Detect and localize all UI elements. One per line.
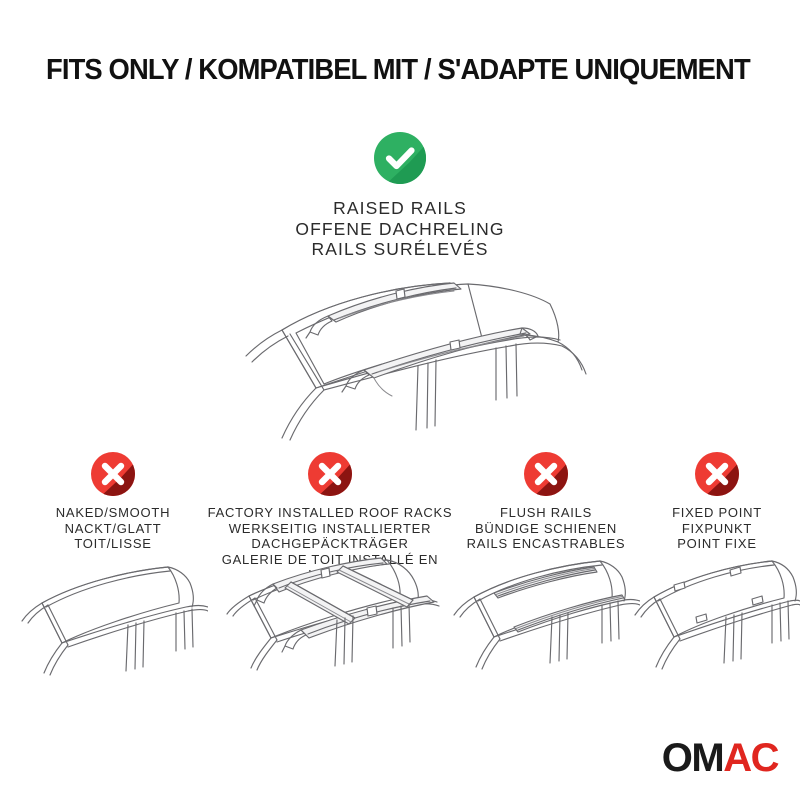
logo-text-om: OM xyxy=(662,736,723,780)
item-labels: FIXED POINT FIXPUNKT POINT FIXE xyxy=(634,505,800,552)
item-label-3: RAILS ENCASTRABLES xyxy=(452,536,640,552)
item-label-3: DACHGEPÄCKTRÄGER xyxy=(205,536,455,552)
item-label-3: POINT FIXE xyxy=(634,536,800,552)
incompatible-sections: NAKED/SMOOTH NACKT/GLATT TOIT/LISSE xyxy=(0,452,800,692)
x-circle-icon xyxy=(91,452,135,496)
x-mark-glyph xyxy=(91,452,135,496)
item-label-2: NACKT/GLATT xyxy=(18,521,208,537)
car-roof-factory-racks-illustration xyxy=(205,552,455,672)
check-mark-glyph xyxy=(374,132,426,184)
item-labels: FLUSH RAILS BÜNDIGE SCHIENEN RAILS ENCAS… xyxy=(452,505,640,552)
item-label-3: TOIT/LISSE xyxy=(18,536,208,552)
x-circle-icon xyxy=(695,452,739,496)
incompatible-item-flush-rails: FLUSH RAILS BÜNDIGE SCHIENEN RAILS ENCAS… xyxy=(452,452,640,552)
compatible-labels: RAISED RAILS OFFENE DACHRELING RAILS SUR… xyxy=(0,198,800,260)
incompatible-item-factory-racks: FACTORY INSTALLED ROOF RACKS WERKSEITIG … xyxy=(205,452,455,583)
compatible-label-fr: RAILS SURÉLEVÉS xyxy=(0,239,800,260)
item-label-1: NAKED/SMOOTH xyxy=(18,505,208,521)
x-circle-icon xyxy=(524,452,568,496)
compatible-section: RAISED RAILS OFFENE DACHRELING RAILS SUR… xyxy=(0,132,800,260)
car-roof-raised-rails-illustration xyxy=(178,278,628,453)
car-roof-flush-rails-illustration xyxy=(452,555,640,675)
x-mark-glyph xyxy=(524,452,568,496)
omac-logo: OMAC xyxy=(662,738,778,778)
incompatible-item-fixed-point: FIXED POINT FIXPUNKT POINT FIXE xyxy=(634,452,800,552)
logo-text-ac: AC xyxy=(723,736,778,780)
incompatible-item-naked: NAKED/SMOOTH NACKT/GLATT TOIT/LISSE xyxy=(18,452,208,552)
car-roof-naked-illustration xyxy=(18,559,208,679)
item-label-2: WERKSEITIG INSTALLIERTER xyxy=(205,521,455,537)
item-label-1: FACTORY INSTALLED ROOF RACKS xyxy=(205,505,455,521)
car-roof-fixed-point-illustration xyxy=(634,555,800,675)
x-mark-glyph xyxy=(308,452,352,496)
item-label-1: FLUSH RAILS xyxy=(452,505,640,521)
x-circle-icon xyxy=(308,452,352,496)
x-mark-glyph xyxy=(695,452,739,496)
compatible-label-de: OFFENE DACHRELING xyxy=(0,219,800,240)
item-labels: NAKED/SMOOTH NACKT/GLATT TOIT/LISSE xyxy=(18,505,208,552)
item-label-2: BÜNDIGE SCHIENEN xyxy=(452,521,640,537)
check-circle-icon xyxy=(374,132,426,184)
item-label-1: FIXED POINT xyxy=(634,505,800,521)
compatible-label-en: RAISED RAILS xyxy=(0,198,800,219)
page-title: FITS ONLY / KOMPATIBEL MIT / S'ADAPTE UN… xyxy=(46,54,737,87)
item-label-2: FIXPUNKT xyxy=(634,521,800,537)
